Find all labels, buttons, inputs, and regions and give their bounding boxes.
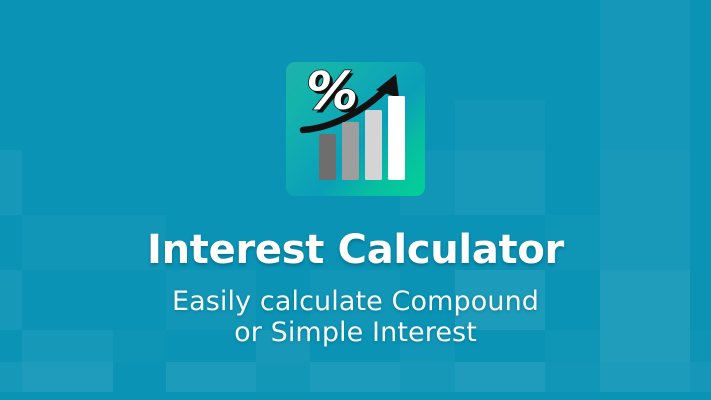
mosaic-tile [455, 100, 545, 150]
page-title: Interest Calculator [0, 228, 711, 272]
chart-bar-1 [319, 134, 336, 180]
mosaic-tile [600, 0, 690, 150]
chart-bar-4 [388, 96, 405, 180]
mosaic-tile [256, 362, 310, 392]
page-subtitle-line-2: or Simple Interest [0, 317, 711, 348]
mosaic-tile [166, 362, 256, 392]
page-subtitle: Easily calculate Compound or Simple Inte… [0, 286, 711, 348]
mosaic-tile [310, 362, 400, 392]
splash-screen: % % Interest Calculator Easily calculate… [0, 0, 711, 400]
mosaic-tile [22, 362, 113, 392]
mosaic-tile [455, 150, 545, 215]
chart-bar-2 [342, 122, 359, 180]
mosaic-tile [545, 362, 600, 392]
mosaic-tile [455, 362, 545, 392]
mosaic-tile [690, 362, 711, 392]
mosaic-tile [600, 362, 690, 392]
app-icon-artwork: % % [286, 62, 425, 196]
percent-symbol: % [306, 62, 358, 122]
app-icon: % % [286, 62, 425, 196]
chart-bar-3 [365, 110, 382, 180]
page-subtitle-line-1: Easily calculate Compound [0, 286, 711, 317]
mosaic-tile [400, 362, 455, 392]
mosaic-tile [0, 150, 22, 215]
mosaic-tile [0, 362, 22, 392]
title-block: Interest Calculator Easily calculate Com… [0, 228, 711, 348]
